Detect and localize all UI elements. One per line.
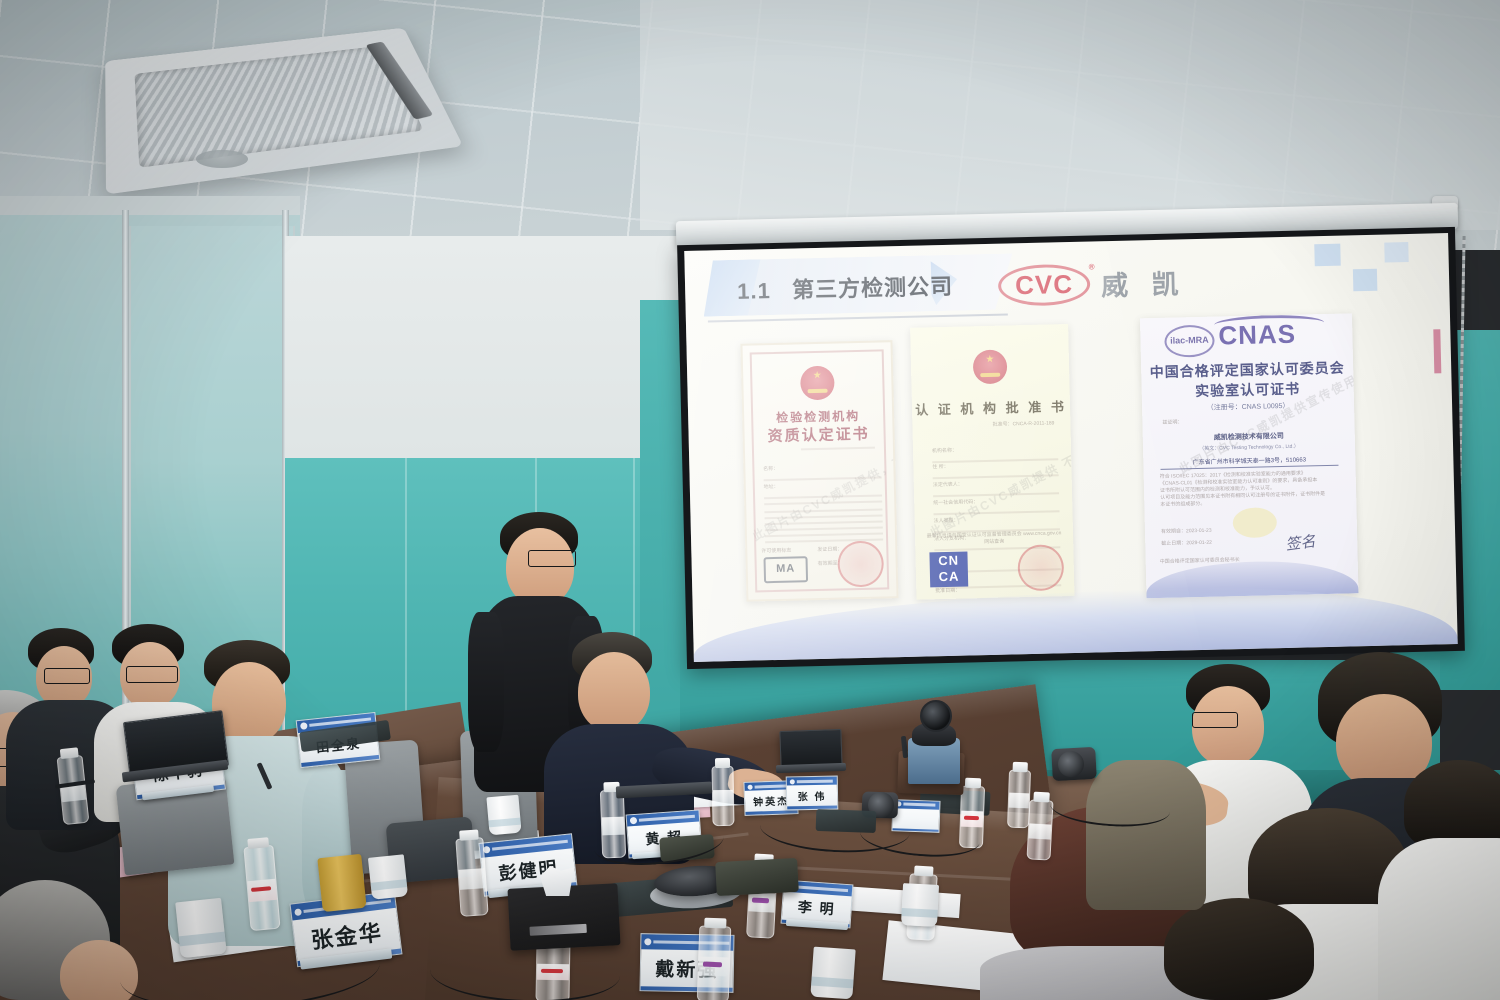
desk-device [816, 809, 877, 833]
certificate-cma: 检验检测机构 资质认定证书 名称： 地址： MA 许可使用标志 发证日期： 有效… [740, 340, 898, 602]
cert-cma-addr-label: 地址： [764, 484, 779, 490]
cert-cnca-legal-label: 法定代表人： [933, 482, 963, 489]
tissue-box-brand [529, 924, 587, 936]
decor-square-1 [1314, 244, 1341, 267]
presentation-slide: 1.1 第三方检测公司 CVC 威 凯 检验检测机构 资质认定证书 [684, 233, 1457, 662]
paper-cup[interactable] [486, 795, 521, 836]
cert-cnca-no: 批准号：CNCA-R-2011-189 [992, 420, 1054, 428]
decor-square-2 [1353, 269, 1378, 292]
cert-cma-title-2: 资质认定证书 [744, 422, 892, 446]
ilac-mra-mark-icon: ilac-MRA [1164, 325, 1215, 358]
water-bottle[interactable] [697, 925, 732, 1000]
paper-cup[interactable] [368, 854, 408, 900]
water-bottle[interactable] [1026, 799, 1053, 860]
cert-cnas-certify-label: 兹证明： [1162, 419, 1182, 426]
cert-cnca-issue-label: 批准日期： [935, 588, 960, 595]
cert-cma-issue: 发证日期： [817, 546, 842, 554]
ptz-video-camera-2[interactable] [1051, 747, 1097, 781]
cert-cma-mark-label: 许可使用标志 [761, 548, 791, 556]
cert-cnca-title: 认 证 机 构 批 准 书 [912, 396, 1070, 419]
cert-cnca-type-label: 法人类型： [934, 518, 959, 525]
cert-cnas-holographic-blob [1232, 507, 1277, 538]
power-adapter [715, 858, 799, 896]
cvc-brand-name-cn: 威 凯 [1101, 262, 1187, 303]
paper-cup[interactable] [901, 883, 939, 927]
cert-cnca-credit-label: 统一社会信用代码： [933, 499, 978, 506]
decor-pink-bar [1433, 329, 1441, 373]
national-emblem-icon [973, 349, 1008, 384]
slide-section-title: 第三方检测公司 [792, 274, 954, 303]
cert-cnas-issue: 有效期自：2023-01-23 [1161, 528, 1212, 536]
water-bottle[interactable] [455, 837, 488, 917]
slide-title: 1.1 第三方检测公司 [737, 269, 954, 306]
nameplate-label: 张 伟 [787, 785, 837, 807]
yellow-mug[interactable] [317, 854, 366, 912]
presenter-glasses [528, 550, 576, 567]
water-bottle[interactable] [711, 766, 734, 826]
cma-mark-icon: MA [763, 556, 808, 583]
cert-cma-name-label: 名称： [763, 466, 778, 472]
wall-upper-middle [285, 236, 685, 458]
paper-cup[interactable] [810, 947, 855, 1000]
cvc-brand-logo: CVC 威 凯 [998, 261, 1187, 306]
cert-cnas-title-2: 实验室认可证书 [1141, 377, 1353, 402]
decor-square-3 [1384, 242, 1408, 263]
cert-cnas-address: 广东省广州市科学城天泰一路3号，510663 [1160, 454, 1338, 470]
cert-cnca-org-label: 机构名称： [932, 448, 957, 455]
cvc-mark: CVC [998, 264, 1091, 307]
slide-section-number: 1.1 [737, 278, 771, 304]
certificate-cnas: ilac-MRA CNAS 中国合格评定国家认可委员会 实验室认可证书 （注册号… [1140, 313, 1359, 598]
cnas-mark-icon: CNAS [1218, 319, 1296, 352]
water-bottle[interactable] [1007, 770, 1031, 829]
projection-screen: 1.1 第三方检测公司 CVC 威 凯 检验检测机构 资质认定证书 [677, 227, 1465, 669]
cert-cnas-signature: 签名 [1284, 527, 1340, 554]
cert-cnca-addr-label: 住 所： [932, 464, 949, 470]
cnca-mark-icon: CNCA [929, 551, 968, 587]
certificate-cnca: 认 证 机 构 批 准 书 批准号：CNCA-R-2011-189 机构名称： … [910, 324, 1074, 600]
meeting-room-photo: 1.1 第三方检测公司 CVC 威 凯 检验检测机构 资质认定证书 [0, 0, 1500, 1000]
cert-cnas-expiry: 截止日期：2029-01-22 [1161, 540, 1212, 548]
ceiling-speaker-icon [196, 150, 248, 168]
ceiling-right-section [640, 0, 1500, 230]
